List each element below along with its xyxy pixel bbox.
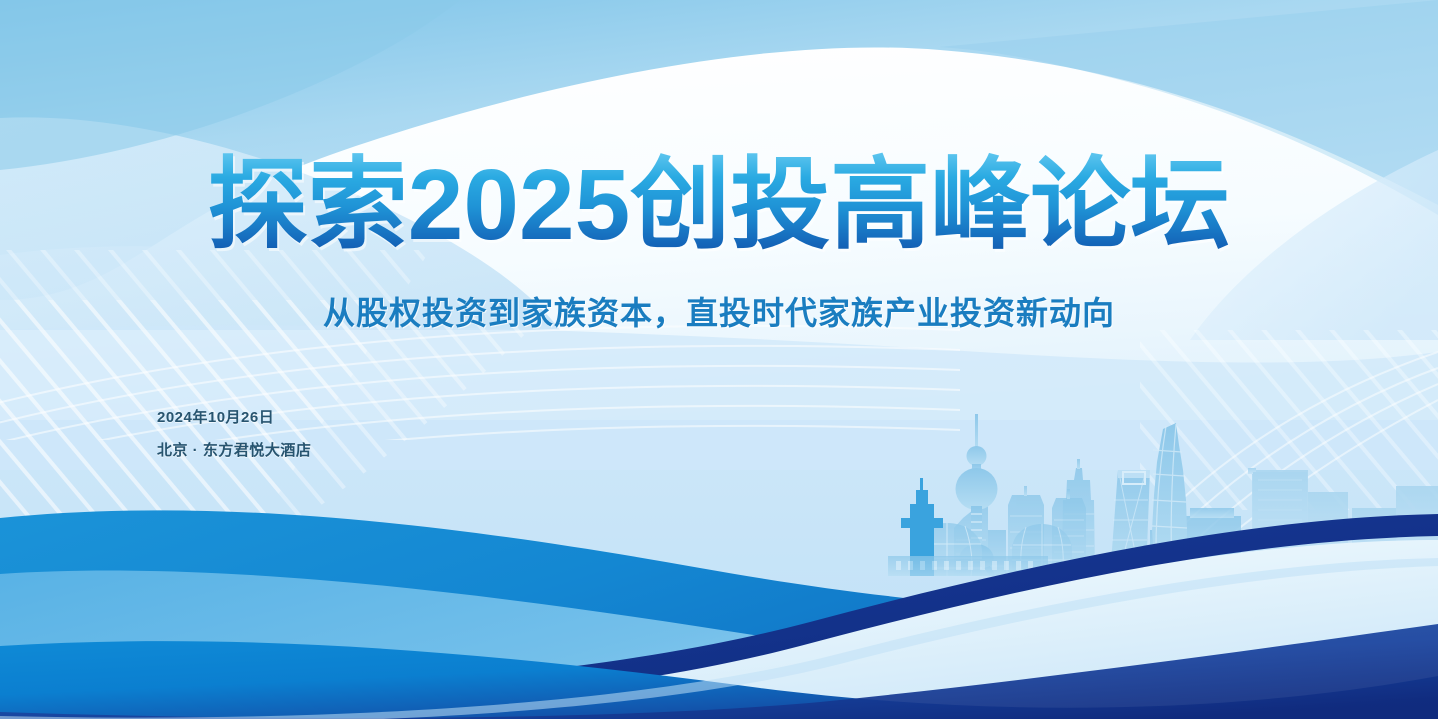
conference-poster: 探索2025创投高峰论坛 从股权投资到家族资本，直投时代家族产业投资新动向 20… [0, 0, 1438, 719]
poster-background [0, 0, 1438, 719]
